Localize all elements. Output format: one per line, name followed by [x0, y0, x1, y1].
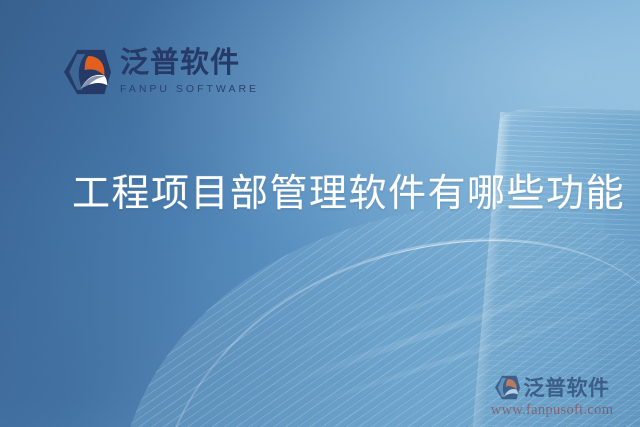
page-title: 工程项目部管理软件有哪些功能 [72, 162, 625, 217]
brand-name-en: FANPU SOFTWARE [120, 84, 259, 95]
watermark-brand-row: 泛普软件 [470, 372, 634, 402]
watermark-brand-name: 泛普软件 [524, 372, 610, 402]
fanpu-hexagon-logo-icon [495, 375, 520, 400]
watermark-url: www.fanpusoft.com [470, 402, 634, 419]
watermark: 泛普软件 www.fanpusoft.com [470, 372, 634, 419]
brand-logo[interactable]: 泛普软件 FANPU SOFTWARE [64, 48, 259, 96]
promo-banner: 泛普软件 FANPU SOFTWARE 工程项目部管理软件有哪些功能 泛普软件 … [0, 0, 640, 427]
brand-name-cn: 泛普软件 [120, 49, 259, 79]
brand-logo-text: 泛普软件 FANPU SOFTWARE [120, 49, 259, 94]
fanpu-hexagon-logo-icon [64, 48, 111, 96]
